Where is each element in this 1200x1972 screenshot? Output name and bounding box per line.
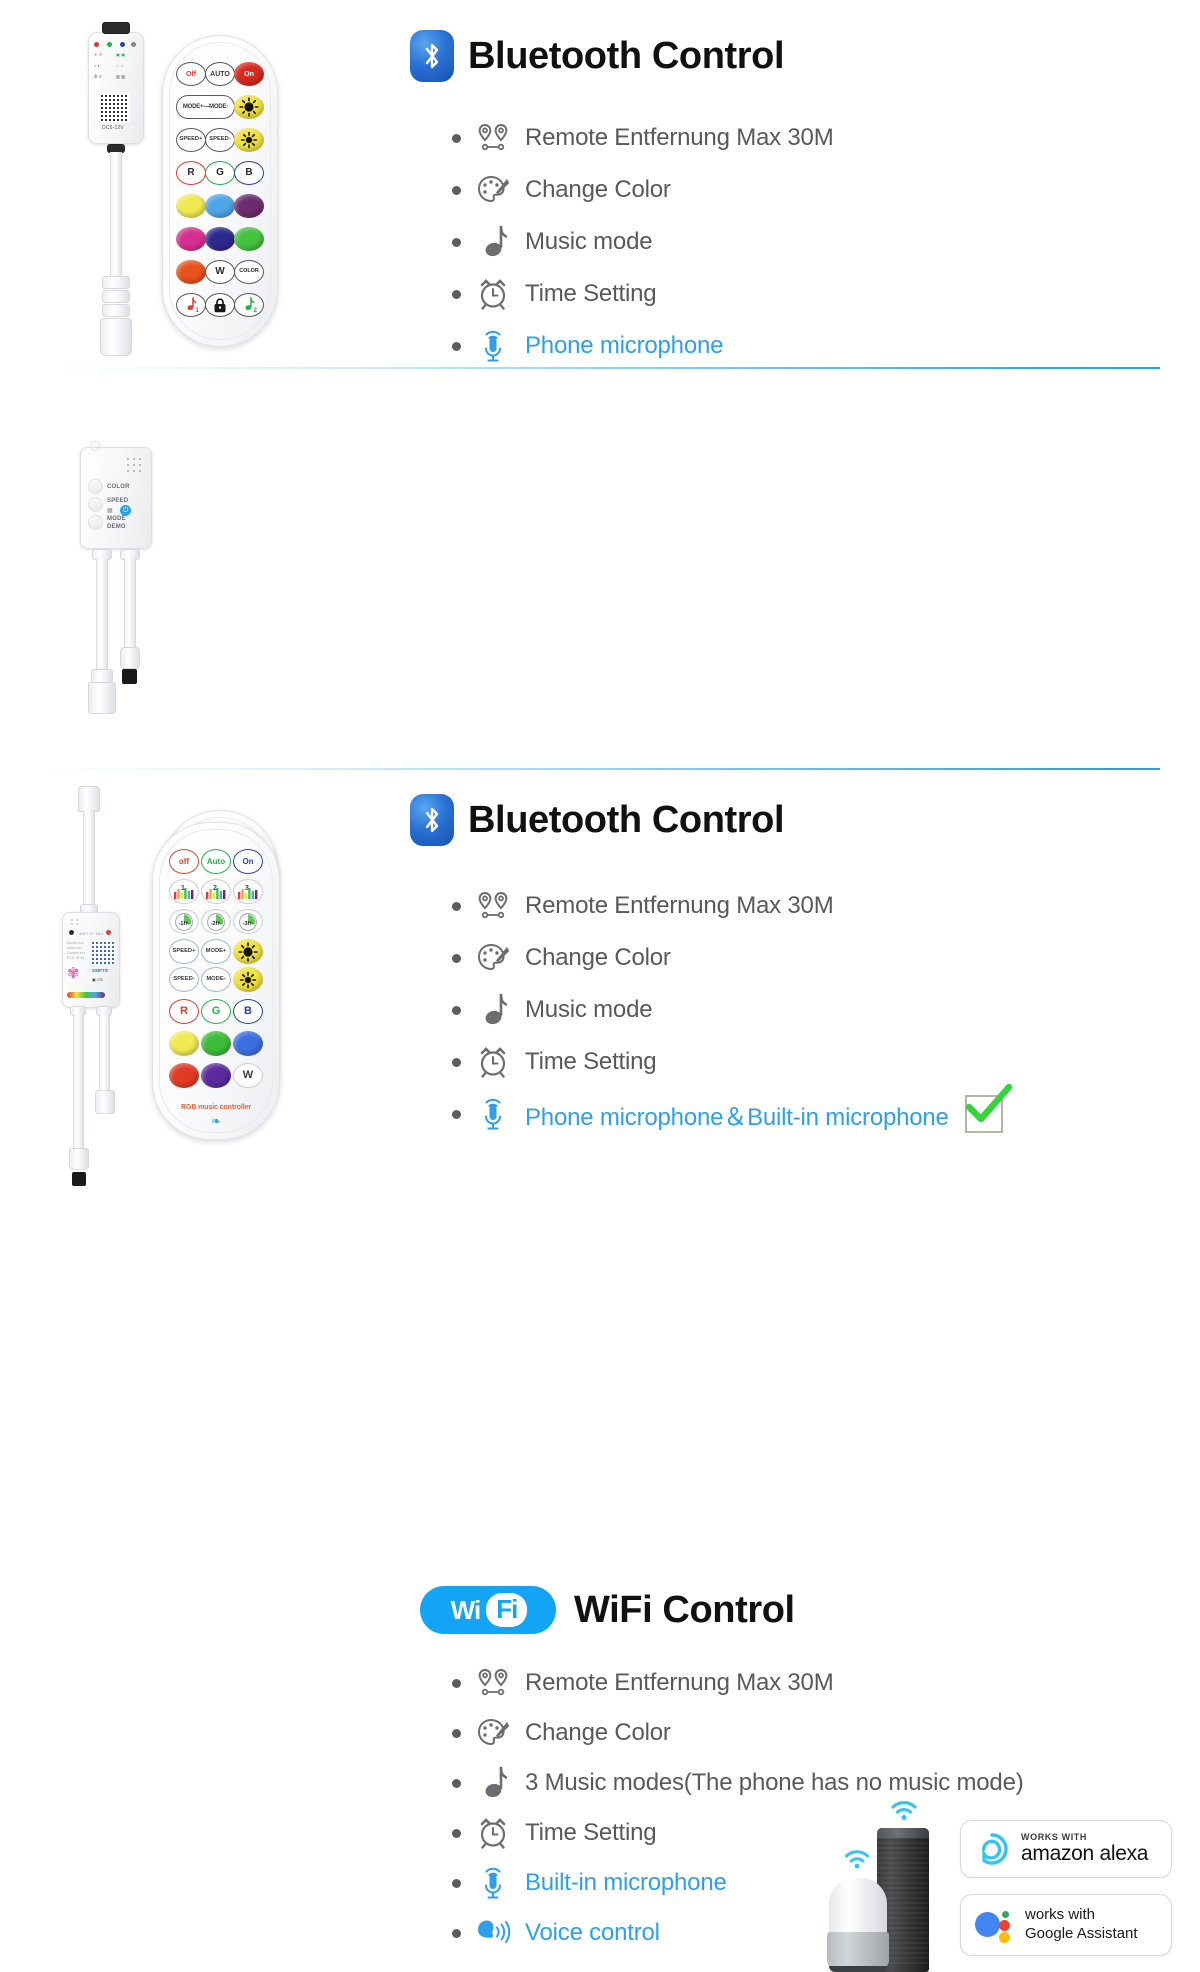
remote-key-1h[interactable]: -1H- — [169, 909, 199, 934]
connector-black — [72, 1172, 86, 1186]
remote-key-auto[interactable]: AUTO — [205, 62, 235, 86]
bluetooth-icon — [410, 30, 454, 82]
section-bluetooth-1: ✳ ☀ ♪ ◐ ⏱ ✧ ▣ ▣ ✓ ✓ ▨ ▧ DC5-12V OffAUTOO… — [0, 0, 1200, 382]
remote-key-color[interactable] — [234, 227, 264, 251]
feature-label: Time Setting — [525, 1819, 656, 1847]
list-bullet — [452, 1779, 461, 1788]
remote-24key-1[interactable]: OffAUTOOnMODE+—MODE- SPEED+SPEED- RGBWCO… — [162, 35, 278, 347]
list-bullet — [452, 134, 461, 143]
remote-key-brightness-up-icon[interactable] — [234, 95, 264, 119]
feature-row: Music mode — [452, 216, 834, 268]
remote-key-off[interactable]: off — [169, 849, 199, 874]
list-bullet — [452, 1929, 461, 1938]
feature-row: Time Setting — [452, 268, 834, 320]
remote-key-color[interactable] — [205, 194, 235, 218]
remote-key-color[interactable] — [176, 194, 206, 218]
remote-key-auto[interactable]: Auto — [201, 849, 231, 874]
rgb-gradient-bar — [67, 992, 105, 998]
alexa-ring-icon — [975, 1832, 1009, 1866]
color-palette-icon — [473, 1713, 513, 1753]
list-bullet — [452, 290, 461, 299]
feature-row: Remote Entfernung Max 30M — [452, 1658, 1024, 1708]
svg-text:1: 1 — [181, 885, 185, 892]
location-pins-icon — [473, 1663, 513, 1703]
list-bullet — [452, 1729, 461, 1738]
feature-label: Voice control — [525, 1919, 660, 1947]
connector-black — [122, 669, 137, 684]
remote-key-mode[interactable]: MODE+ — [201, 939, 231, 964]
cable — [110, 152, 122, 280]
remote-key-speed[interactable]: SPEED- — [205, 128, 235, 152]
badge-line-1: WORKS WITH — [1021, 1832, 1148, 1842]
voice-control-icon — [473, 1913, 513, 1953]
remote-key-color[interactable] — [169, 1031, 199, 1056]
qr-code — [92, 940, 116, 964]
section-header: Wi Fi WiFi Control — [420, 1586, 795, 1634]
remote-keypad[interactable]: OffAUTOOnMODE+—MODE- SPEED+SPEED- RGBWCO… — [163, 36, 277, 346]
badge-google-assistant: works with Google Assistant — [960, 1894, 1172, 1956]
remote-key-1[interactable]: 1 — [169, 879, 199, 904]
mic-dots — [70, 918, 82, 926]
brand-mark: ✾ — [67, 966, 89, 986]
feature-label: Remote Entfernung Max 30M — [525, 124, 834, 152]
remote-key-color[interactable] — [176, 260, 206, 284]
google-home — [829, 1878, 887, 1936]
wifi-logo-text-wi: Wi — [451, 1595, 481, 1626]
remote-key-color[interactable] — [201, 1031, 231, 1056]
remote-key-color[interactable]: COLOR — [234, 260, 264, 284]
remote-key-3[interactable]: 3 — [233, 879, 263, 904]
remote-key-2[interactable]: 2 — [201, 879, 231, 904]
microphone-icon — [473, 1863, 513, 1903]
section-divider-1 — [40, 367, 1160, 369]
remote-key-color[interactable] — [169, 1063, 199, 1088]
music-note-icon — [473, 222, 513, 262]
remote-key-3h[interactable]: -3H- — [233, 909, 263, 934]
remote-key-speed[interactable]: SPEED+ — [176, 128, 206, 152]
remote-key-color[interactable] — [201, 1063, 231, 1088]
wifi-icon: Wi Fi — [420, 1586, 556, 1634]
remote-key-w[interactable]: W — [205, 260, 235, 284]
feature-label: Remote Entfernung Max 30M — [525, 1669, 834, 1697]
remote-key-color[interactable] — [234, 194, 264, 218]
section-wifi: WIFI IC TAG Model:xxxInput:xxxOutput:xxx… — [0, 772, 1200, 1200]
feature-label: Time Setting — [525, 280, 656, 308]
badge-line-2: Google Assistant — [1025, 1925, 1138, 1944]
remote-key-r[interactable]: R — [176, 161, 206, 185]
feature-row: Phone microphone — [452, 320, 834, 372]
remote-wifi[interactable]: offAutoOn 1 2 3 -1H- -2H- -3H-SPEED+MODE… — [152, 822, 280, 1140]
remote-key-brightness-down-icon[interactable] — [234, 128, 264, 152]
smart-speakers-image — [815, 1794, 965, 1972]
music-note-icon — [473, 1763, 513, 1803]
remote-key-r[interactable]: R — [169, 999, 199, 1024]
section-header: Bluetooth Control — [410, 30, 784, 82]
remote-key-music-2-icon[interactable]: 2 — [234, 293, 264, 317]
section-title: WiFi Control — [574, 1589, 795, 1632]
list-bullet — [452, 238, 461, 247]
google-assistant-icon — [975, 1908, 1015, 1942]
svg-text:2: 2 — [253, 307, 257, 314]
feature-row: Remote Entfernung Max 30M — [452, 112, 834, 164]
svg-text:-2H-: -2H- — [210, 920, 221, 926]
remote-key-w[interactable]: W — [233, 1063, 263, 1088]
microphone-grille — [124, 455, 144, 475]
section-title: Bluetooth Control — [468, 35, 784, 78]
feature-label: Music mode — [525, 228, 652, 256]
wifi-logo-text-fi: Fi — [496, 1594, 517, 1624]
svg-text:-3H-: -3H- — [242, 920, 253, 926]
remote-key-lock-icon[interactable] — [205, 293, 235, 317]
list-bullet — [452, 1879, 461, 1888]
remote-keypad[interactable]: offAutoOn 1 2 3 -1H- -2H- -3H-SPEED+MODE… — [153, 823, 279, 1139]
feature-row: Change Color — [452, 1708, 1024, 1758]
remote-bottom-label: RGB music controller — [153, 1104, 279, 1111]
label-speed: SPEED — [107, 498, 128, 504]
svg-text:2: 2 — [213, 885, 217, 892]
feature-label: Built-in microphone — [525, 1869, 727, 1897]
badge-amazon-alexa: WORKS WITH amazon alexa — [960, 1820, 1172, 1878]
remote-key-on[interactable]: On — [233, 849, 263, 874]
badge-line-1: works with — [1025, 1906, 1138, 1925]
section-divider-2 — [40, 768, 1160, 770]
remote-key-on[interactable]: On — [234, 62, 264, 86]
remote-key-b[interactable]: B — [234, 161, 264, 185]
remote-key-speed[interactable]: SPEED- — [169, 967, 199, 992]
button-color[interactable] — [88, 479, 103, 494]
feature-label: 3 Music modes(The phone has no music mod… — [525, 1769, 1024, 1797]
button-mode[interactable] — [88, 515, 103, 530]
icon-row-small: ▦ — [107, 507, 113, 514]
feature-label: Change Color — [525, 1719, 671, 1747]
remote-key-color[interactable] — [233, 1031, 263, 1056]
list-bullet — [452, 342, 461, 351]
remote-key-off[interactable]: Off — [176, 62, 206, 86]
list-bullet — [452, 186, 461, 195]
remote-key-brightness-up-icon[interactable] — [233, 939, 263, 964]
voltage-label: DC5-12V — [102, 125, 124, 131]
feature-label: Change Color — [525, 176, 671, 204]
label-color: COLOR — [107, 484, 130, 490]
remote-key-2h[interactable]: -2H- — [201, 909, 231, 934]
brand-logo-icon: ❧ — [153, 1115, 279, 1127]
list-bullet — [452, 1829, 461, 1838]
feature-list: Remote Entfernung Max 30M Change Color M… — [452, 112, 834, 372]
list-bullet — [452, 1679, 461, 1688]
remote-key-speed[interactable]: SPEED+ — [169, 939, 199, 964]
remote-key-g[interactable]: G — [205, 161, 235, 185]
wifi-signal-icon — [889, 1798, 919, 1822]
badge-line-2: amazon alexa — [1021, 1842, 1148, 1866]
alarm-clock-icon — [473, 274, 513, 314]
power-icon: ⏻ — [120, 505, 131, 516]
svg-text:3: 3 — [245, 885, 249, 892]
svg-text:1: 1 — [195, 307, 199, 314]
qr-code — [100, 92, 130, 122]
location-pins-icon — [473, 118, 513, 158]
color-palette-icon — [473, 170, 513, 210]
remote-key-g[interactable]: G — [201, 999, 231, 1024]
remote-key-brightness-down-icon[interactable] — [233, 967, 263, 992]
remote-key-music-1-icon[interactable]: 1 — [176, 293, 206, 317]
remote-key-color[interactable] — [205, 227, 235, 251]
section-bluetooth-2: COLOR SPEED ▦ ⏻ MODE DEMO OffAUTOOnMODE+… — [0, 382, 1200, 772]
microphone-icon — [473, 326, 513, 366]
remote-key-mode[interactable]: MODE- — [201, 967, 231, 992]
label-mode-demo: MODE DEMO — [107, 516, 126, 531]
remote-key-b[interactable]: B — [233, 999, 263, 1024]
feature-label: Phone microphone — [525, 332, 723, 360]
wifi-signal-icon — [843, 1848, 871, 1870]
connector-top — [102, 22, 130, 34]
feature-row: Change Color — [452, 164, 834, 216]
alarm-clock-icon — [473, 1813, 513, 1853]
remote-key-mode-mode[interactable]: MODE+—MODE- — [176, 95, 235, 119]
button-speed[interactable] — [88, 497, 103, 512]
svg-text:-1H-: -1H- — [178, 920, 189, 926]
remote-key-color[interactable] — [176, 227, 206, 251]
